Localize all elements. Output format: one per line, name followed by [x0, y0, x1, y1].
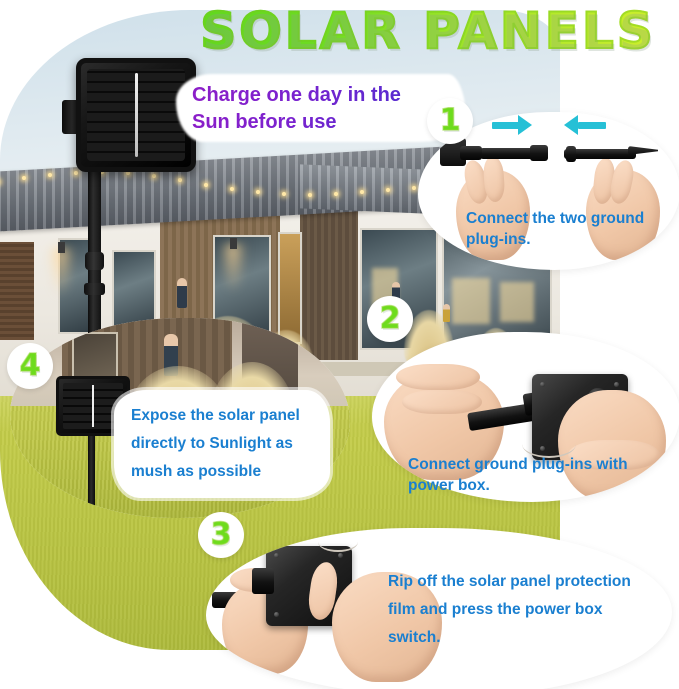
step-4-number: 4	[20, 351, 41, 381]
wall-lamp-icon	[58, 242, 65, 253]
step-2-caption: Connect ground plug-ins with power box.	[408, 454, 656, 496]
step-3-number: 3	[211, 520, 232, 550]
ground-plug-socket	[530, 145, 548, 161]
step-1-badge: 1	[427, 98, 473, 144]
step-1-number: 1	[440, 106, 461, 136]
step-3-caption: Rip off the solar panel protection film …	[388, 568, 650, 652]
ground-stake-tip-icon	[628, 146, 658, 155]
ground-plug-collar	[460, 146, 482, 160]
finger	[402, 390, 482, 414]
window-glow	[500, 282, 534, 322]
person-figure	[443, 304, 450, 322]
headline-text: Charge one day in the Sun before use	[192, 82, 442, 136]
solar-panel-icon	[56, 376, 130, 436]
person-figure	[177, 278, 187, 308]
pole-joint	[85, 252, 104, 270]
step-1-caption: Connect the two ground plug-ins.	[466, 208, 672, 250]
finger	[396, 364, 480, 390]
step-4-caption: Expose the solar panel directly to Sunli…	[131, 402, 317, 486]
panel-stake	[88, 430, 95, 518]
wall-lamp-glow	[48, 248, 74, 296]
solar-busbar	[135, 73, 138, 157]
page-title: SOLAR PANELS	[178, 2, 678, 60]
infographic-canvas: SOLAR PANELS Charge one day in the Sun b…	[0, 0, 679, 689]
wall-lamp-glow	[220, 244, 246, 292]
pole-joint	[84, 283, 105, 295]
wall-lamp-icon	[230, 238, 237, 249]
step-4-badge: 4	[7, 343, 53, 389]
window-glow	[452, 278, 490, 324]
step-2-badge: 2	[367, 296, 413, 342]
step-3-badge: 3	[198, 512, 244, 558]
wire-icon	[318, 532, 358, 552]
power-box-port	[252, 568, 274, 594]
ground-plug-collar	[566, 146, 576, 162]
step-2-number: 2	[380, 304, 401, 334]
